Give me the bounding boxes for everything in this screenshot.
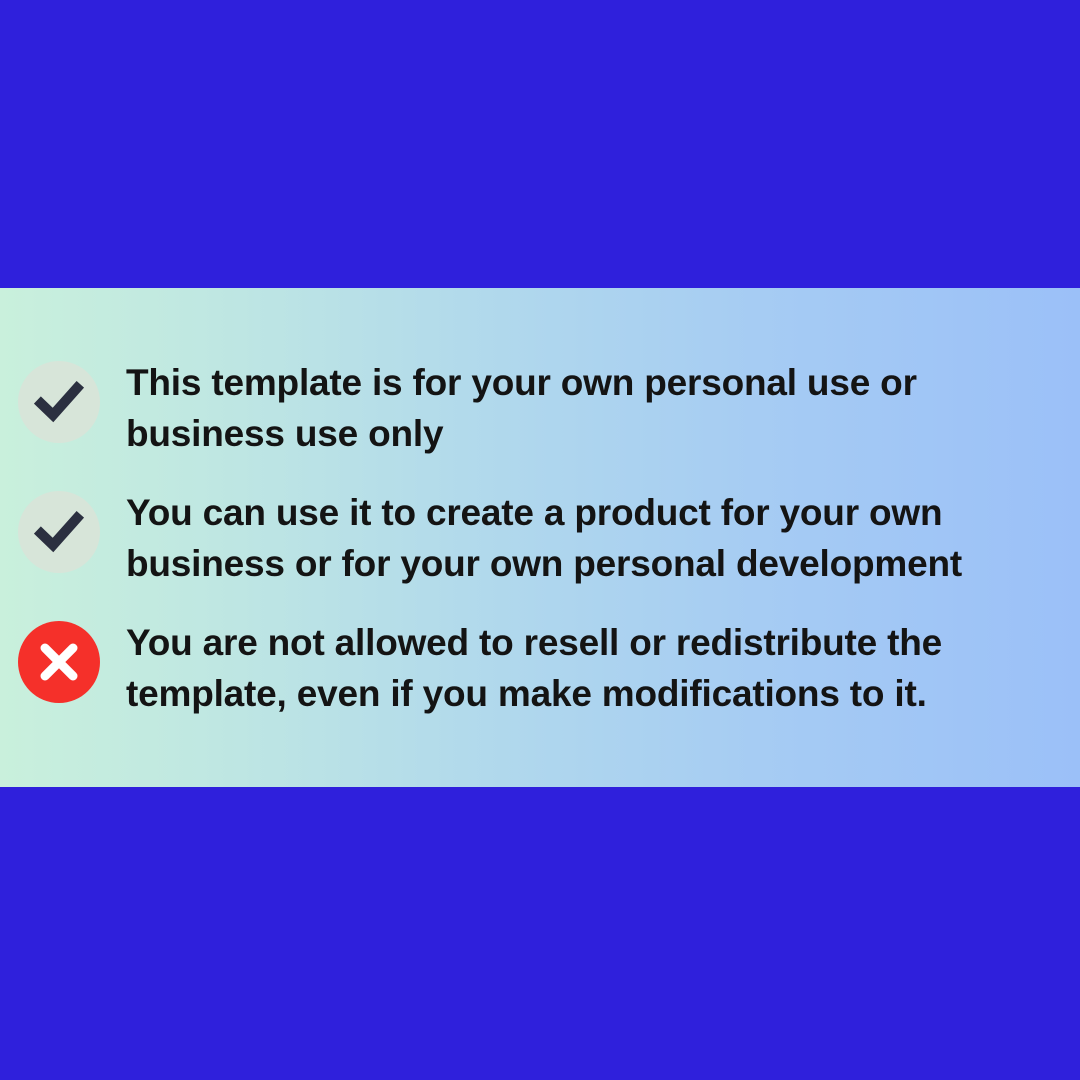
list-item-label: You can use it to create a product for y… [126, 487, 1050, 589]
license-terms-list: This template is for your own personal u… [0, 288, 1080, 787]
list-item: You can use it to create a product for y… [0, 487, 1080, 589]
list-item: This template is for your own personal u… [0, 357, 1080, 459]
list-item-label: You are not allowed to resell or redistr… [126, 617, 1050, 719]
list-item: You are not allowed to resell or redistr… [0, 617, 1080, 719]
check-circle-icon [18, 491, 100, 573]
license-terms-card: This template is for your own personal u… [0, 288, 1080, 787]
list-item-label: This template is for your own personal u… [126, 357, 1050, 459]
slide-canvas: This template is for your own personal u… [0, 0, 1080, 1080]
cross-circle-icon [18, 621, 100, 703]
check-circle-icon [18, 361, 100, 443]
